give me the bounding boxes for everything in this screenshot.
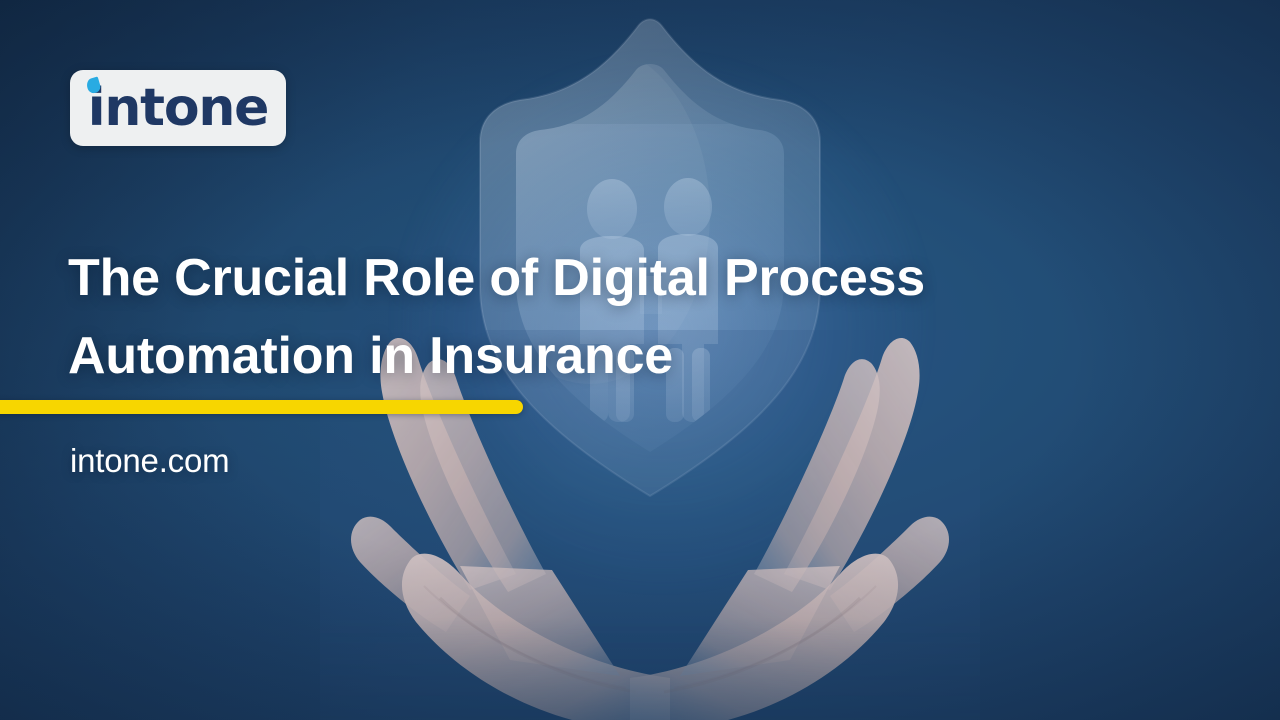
page-title: The Crucial Role of Digital Process Auto… (68, 239, 1078, 395)
intone-logo[interactable]: intone (70, 70, 286, 146)
logo-wordmark: intone (88, 82, 269, 134)
website-url[interactable]: intone.com (70, 441, 229, 481)
presentation-slide: intone The Crucial Role of Digital Proce… (0, 0, 1280, 720)
page-title-line-2: Automation in Insurance (68, 317, 1078, 395)
logo-inner: intone (82, 82, 275, 134)
accent-rule (0, 400, 523, 414)
page-title-line-1: The Crucial Role of Digital Process (68, 239, 1078, 317)
